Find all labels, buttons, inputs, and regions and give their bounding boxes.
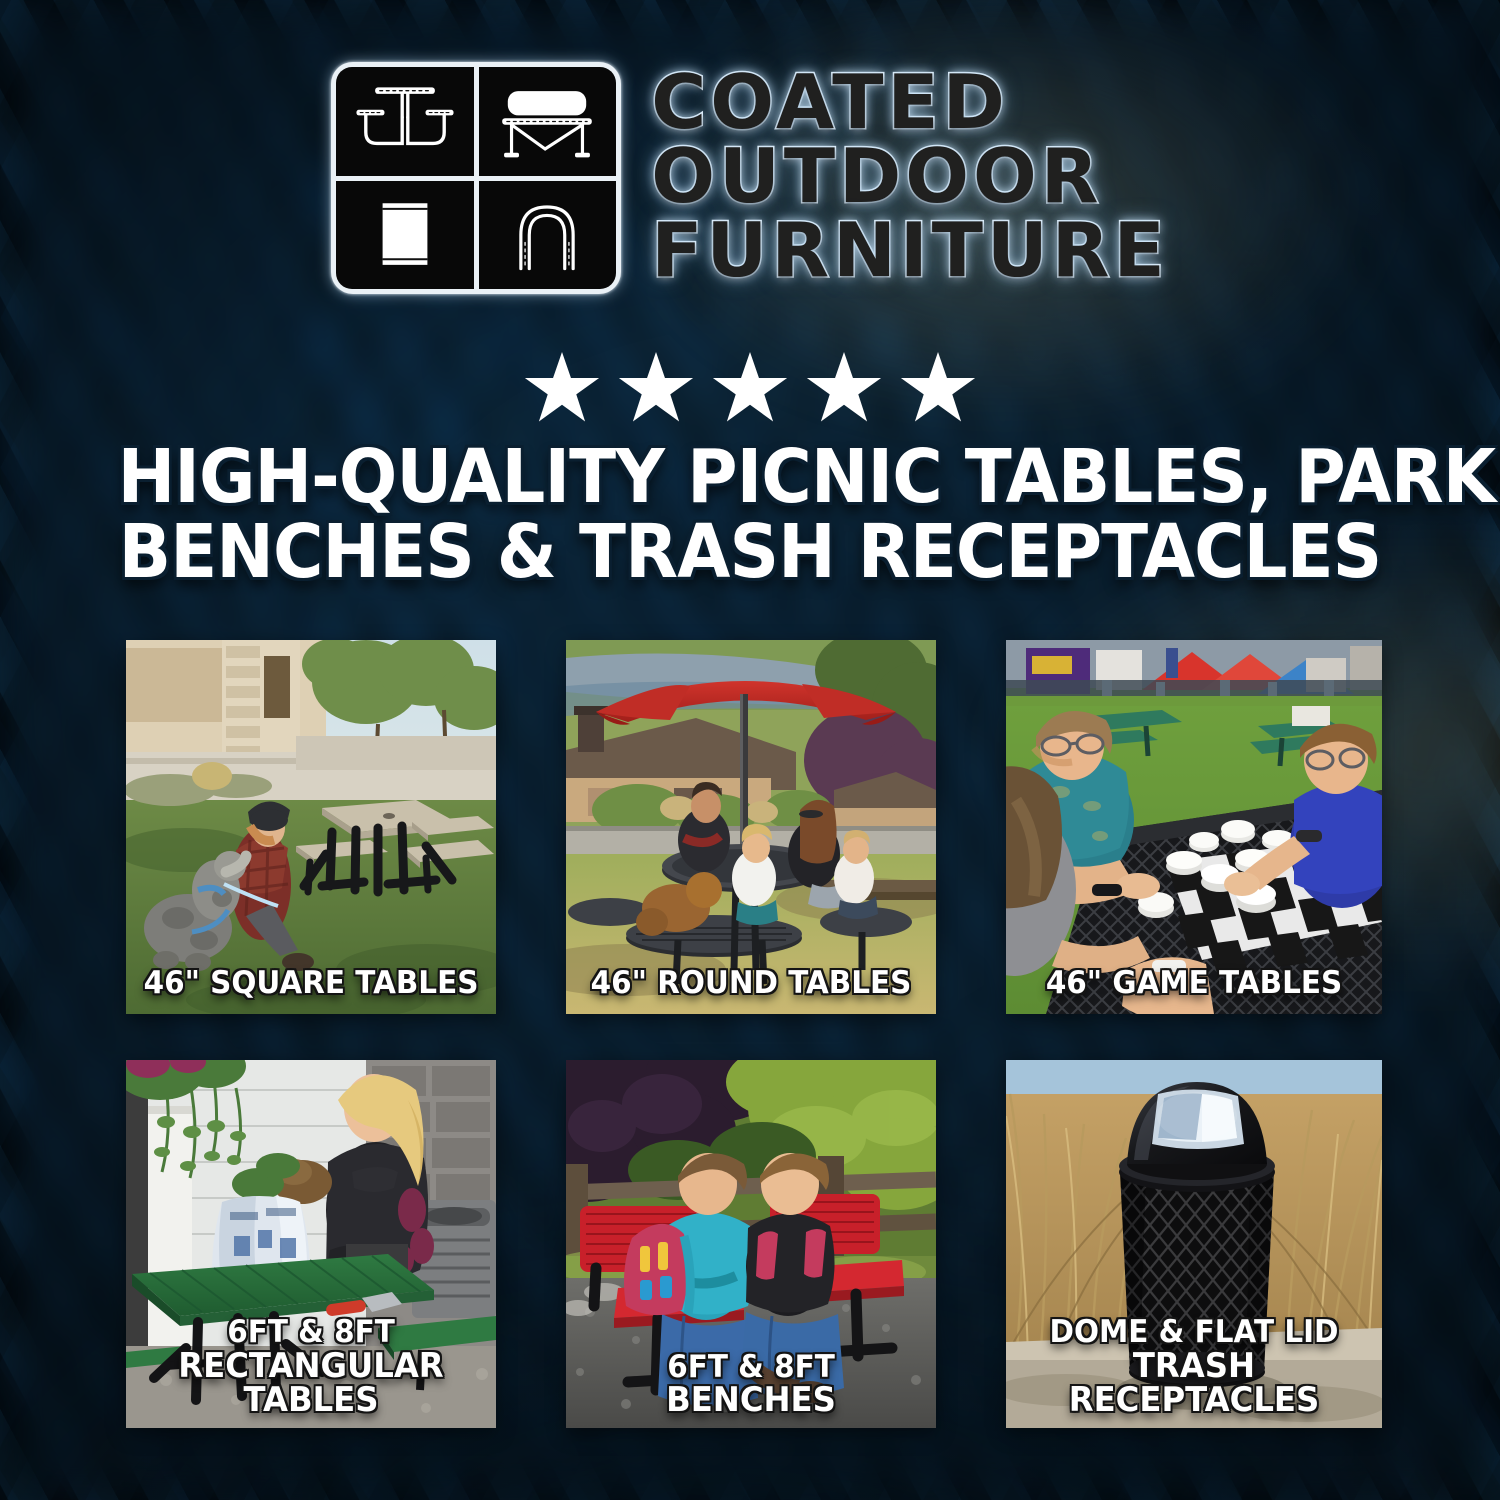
headline-line-2: BENCHES & TRASH RECEPTACLES: [118, 515, 1383, 590]
star-icon: [618, 352, 694, 426]
star-icon: [524, 352, 600, 426]
star-rating: [0, 352, 1500, 426]
trash-receptacle-icon: [336, 181, 474, 290]
star-icon: [712, 352, 788, 426]
brand-logo: COATED OUTDOOR FURNITURE: [0, 62, 1500, 294]
product-grid: 46" SQUARE TABLES: [126, 640, 1376, 1428]
brand-line-3: FURNITURE: [651, 214, 1169, 286]
product-tile-round-tables[interactable]: 46" ROUND TABLES: [566, 640, 936, 1014]
product-tile-trash-receptacles[interactable]: DOME & FLAT LID TRASH RECEPTACLES: [1006, 1060, 1382, 1428]
logo-icon-grid: [331, 62, 621, 294]
product-tile-square-tables[interactable]: 46" SQUARE TABLES: [126, 640, 496, 1014]
headline-line-1: HIGH-QUALITY PICNIC TABLES, PARK: [118, 440, 1383, 515]
product-tile-benches[interactable]: 6FT & 8FT BENCHES: [566, 1060, 936, 1428]
promo-banner: COATED OUTDOOR FURNITURE HIGH-QUALITY PI…: [0, 0, 1500, 1500]
product-caption: DOME & FLAT LID TRASH RECEPTACLES: [1021, 1317, 1367, 1418]
star-icon: [900, 352, 976, 426]
product-photo-round-tables: [566, 640, 936, 1014]
product-tile-rectangular-tables[interactable]: 6FT & 8FT RECTANGULAR TABLES: [126, 1060, 496, 1428]
picnic-table-icon: [336, 67, 474, 176]
product-photo-square-tables: [126, 640, 496, 1014]
star-icon: [806, 352, 882, 426]
product-caption-line-1: DOME & FLAT LID: [1049, 1314, 1338, 1350]
page-title: HIGH-QUALITY PICNIC TABLES, PARK BENCHES…: [118, 440, 1383, 591]
bike-rack-arch-icon: [479, 181, 617, 290]
product-caption: 46" SQUARE TABLES: [141, 968, 481, 1000]
product-caption-line-1: 6FT & 8FT: [667, 1349, 835, 1385]
product-tile-game-tables[interactable]: 46" GAME TABLES: [1006, 640, 1382, 1014]
product-caption-line-1: 6FT & 8FT: [227, 1314, 395, 1350]
product-caption: 46" GAME TABLES: [1021, 968, 1367, 1000]
product-caption-line-2: TRASH RECEPTACLES: [1021, 1349, 1367, 1418]
product-photo-game-tables: [1006, 640, 1382, 1014]
product-caption-line-2: BENCHES: [581, 1383, 921, 1418]
brand-line-2: OUTDOOR: [651, 140, 1169, 212]
brand-wordmark: COATED OUTDOOR FURNITURE: [651, 62, 1169, 286]
park-bench-icon: [479, 67, 617, 176]
brand-line-1: COATED: [651, 66, 1169, 138]
product-caption: 46" ROUND TABLES: [581, 968, 921, 1000]
product-caption: 6FT & 8FT RECTANGULAR TABLES: [141, 1317, 481, 1418]
product-caption: 6FT & 8FT BENCHES: [581, 1352, 921, 1418]
product-caption-line-2: RECTANGULAR TABLES: [141, 1349, 481, 1418]
